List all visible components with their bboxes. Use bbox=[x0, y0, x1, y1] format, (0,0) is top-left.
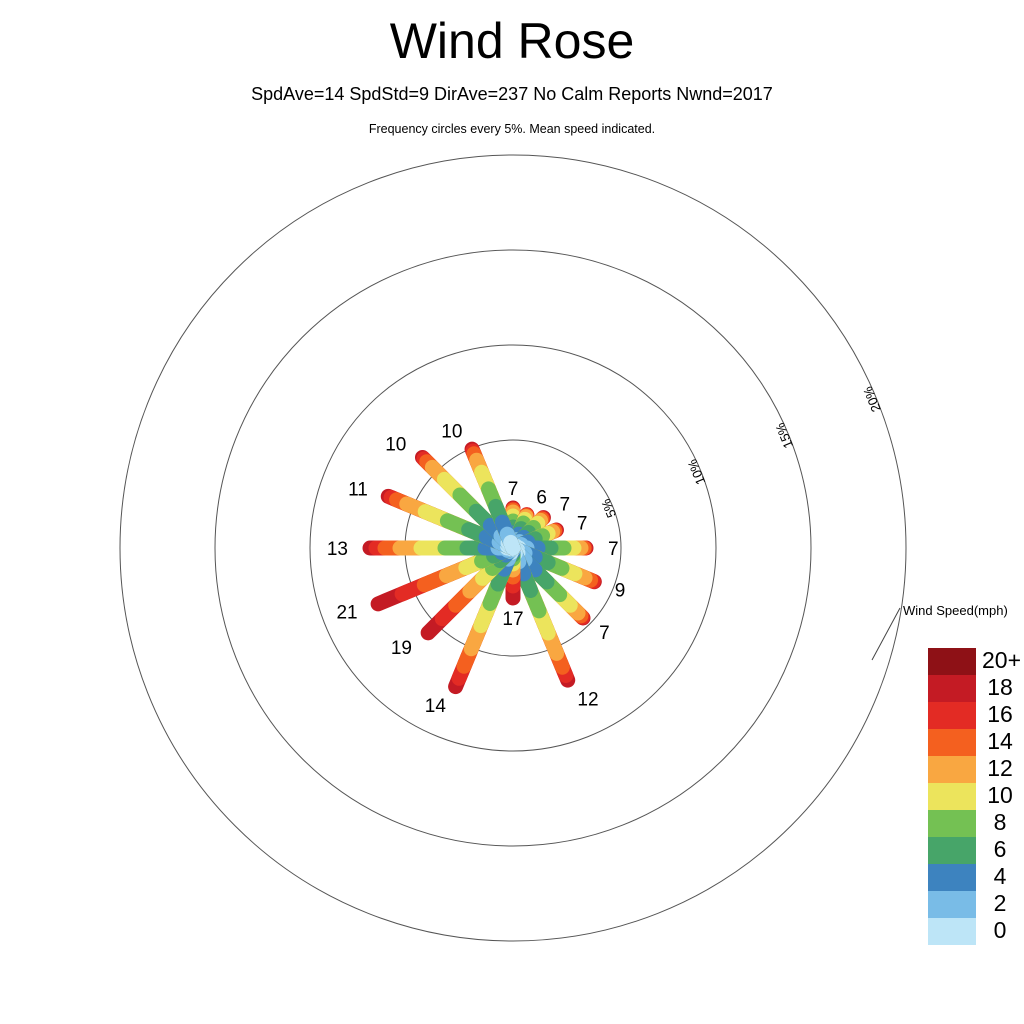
mean-speed-label: 19 bbox=[391, 638, 412, 659]
mean-speed-label: 11 bbox=[348, 480, 368, 501]
legend-label: 16 bbox=[982, 701, 1018, 728]
legend-row: 20+ bbox=[928, 648, 976, 675]
legend-label: 10 bbox=[982, 782, 1018, 809]
wind-rose-plot: 5%10%15%20%7677797121714192113111010 bbox=[0, 0, 1024, 1024]
wind-rose-page: Wind Rose SpdAve=14 SpdStd=9 DirAve=237 … bbox=[0, 0, 1024, 1024]
mean-speed-label: 17 bbox=[502, 609, 523, 630]
legend-color-swatch bbox=[928, 864, 976, 891]
petal-segment bbox=[511, 542, 513, 548]
legend-color-swatch bbox=[928, 675, 976, 702]
legend-label: 20+ bbox=[982, 647, 1024, 674]
legend-row: 2 bbox=[928, 891, 976, 918]
radial-tick-label: 5% bbox=[598, 496, 619, 520]
mean-speed-label: 13 bbox=[327, 539, 348, 560]
legend-label: 2 bbox=[982, 890, 1018, 917]
mean-speed-label: 6 bbox=[536, 487, 547, 508]
mean-speed-label: 7 bbox=[599, 623, 610, 644]
legend-color-swatch bbox=[928, 891, 976, 918]
legend-color-swatch bbox=[928, 648, 976, 675]
legend-color-swatch bbox=[928, 729, 976, 756]
legend-row: 4 bbox=[928, 864, 976, 891]
legend-color-swatch bbox=[928, 810, 976, 837]
radial-tick-labels: 5%10%15%20% bbox=[598, 384, 884, 520]
legend-color-swatch bbox=[928, 837, 976, 864]
legend-label: 18 bbox=[982, 674, 1018, 701]
radial-tick-label: 15% bbox=[772, 420, 796, 450]
mean-speed-label: 7 bbox=[577, 513, 588, 534]
legend-title: Wind Speed(mph) bbox=[903, 603, 1008, 618]
legend-leader-line bbox=[872, 608, 900, 660]
mean-speed-label: 12 bbox=[577, 690, 598, 711]
legend-row: 0 bbox=[928, 918, 976, 945]
radial-tick-label: 10% bbox=[684, 457, 708, 487]
legend-color-swatch bbox=[928, 918, 976, 945]
legend-row: 12 bbox=[928, 756, 976, 783]
mean-speed-label: 7 bbox=[508, 479, 519, 500]
legend-row: 6 bbox=[928, 837, 976, 864]
legend-row: 10 bbox=[928, 783, 976, 810]
legend-label: 4 bbox=[982, 863, 1018, 890]
legend-color-swatch bbox=[928, 783, 976, 810]
mean-speed-label: 10 bbox=[441, 422, 462, 443]
legend-color-swatch bbox=[928, 756, 976, 783]
legend-row: 18 bbox=[928, 675, 976, 702]
legend-row: 14 bbox=[928, 729, 976, 756]
legend: 20+181614121086420 bbox=[928, 648, 976, 945]
mean-speed-label: 14 bbox=[425, 696, 447, 717]
legend-label: 0 bbox=[982, 917, 1018, 944]
mean-speed-label: 7 bbox=[608, 539, 619, 560]
legend-row: 8 bbox=[928, 810, 976, 837]
legend-color-swatch bbox=[928, 702, 976, 729]
mean-speed-label: 7 bbox=[560, 494, 571, 515]
mean-speed-label: 21 bbox=[336, 603, 357, 624]
radial-tick-label: 20% bbox=[860, 384, 884, 414]
mean-speed-label: 9 bbox=[615, 580, 626, 601]
legend-label: 6 bbox=[982, 836, 1018, 863]
legend-label: 8 bbox=[982, 809, 1018, 836]
legend-row: 16 bbox=[928, 702, 976, 729]
legend-label: 12 bbox=[982, 755, 1018, 782]
legend-label: 14 bbox=[982, 728, 1018, 755]
mean-speed-label: 10 bbox=[385, 434, 406, 455]
